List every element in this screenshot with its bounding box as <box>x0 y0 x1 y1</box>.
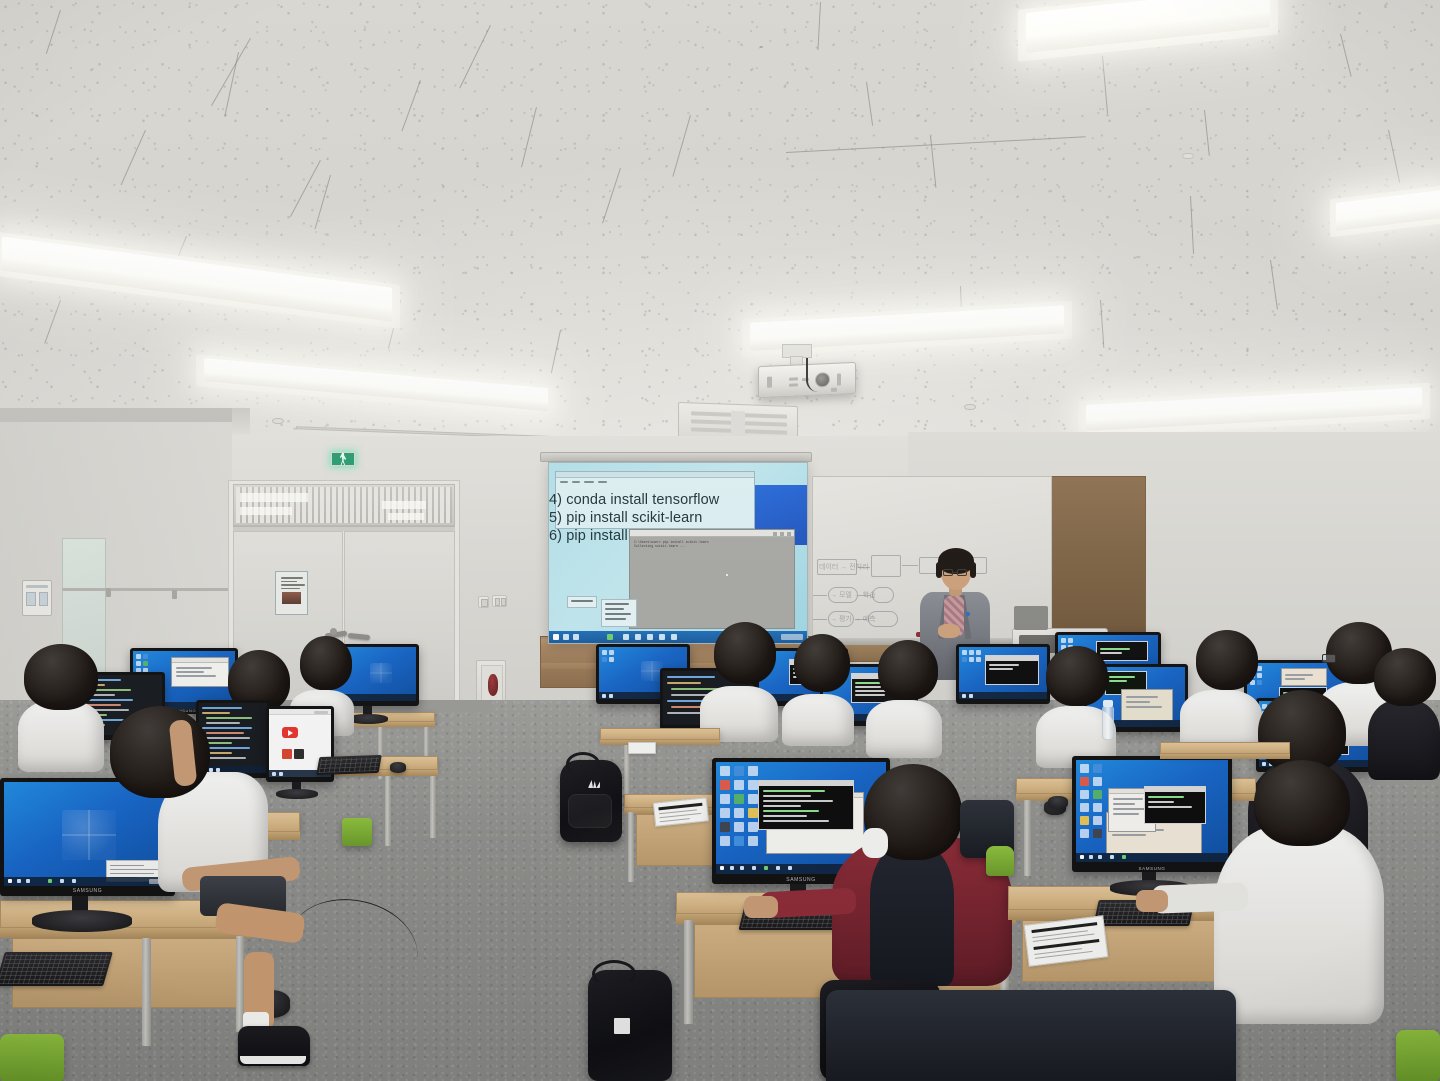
whiteboard-arrow <box>813 619 827 620</box>
projected-terminal-text: C:\Users\user> pip install scikit-learn … <box>634 540 709 548</box>
projector-vent <box>837 374 841 386</box>
screen-housing <box>540 452 812 462</box>
chair-back-front-center[interactable] <box>826 990 1236 1081</box>
backpack-adidas[interactable] <box>560 760 622 842</box>
projected-line-2: 5) pip install scikit-learn <box>549 509 702 528</box>
classroom-photo: 4) conda install tensorflow 5) pip insta… <box>0 0 1440 1081</box>
smoke-detector <box>1182 153 1194 159</box>
mouse[interactable] <box>390 762 406 773</box>
chair-green-right[interactable] <box>986 846 1014 876</box>
desk-leg <box>1024 800 1031 876</box>
av-box <box>1014 606 1048 630</box>
desk-leg <box>385 776 391 846</box>
projected-line-1: 4) conda install tensorflow <box>549 491 719 510</box>
hand <box>744 896 778 918</box>
door-notice-poster <box>275 571 308 615</box>
instructor-glasses-left <box>943 569 953 576</box>
whiteboard-text-3: → 평가 → 예측 <box>830 614 876 624</box>
running-man-icon <box>340 453 346 465</box>
desk-leg <box>628 812 634 882</box>
monitor-front-right[interactable]: SAMSUNG <box>1072 756 1232 872</box>
mouse-cursor-dot <box>726 574 728 576</box>
terminal-window[interactable] <box>1144 786 1206 824</box>
instructor-glasses-right <box>957 569 967 576</box>
whiteboard-arrow <box>902 565 918 566</box>
wall-ceiling-joint <box>0 408 232 422</box>
projector-vent <box>789 377 798 380</box>
student-glasses <box>1322 654 1336 663</box>
instructor-badge <box>966 612 970 616</box>
ceiling-rod <box>760 46 763 48</box>
whiteboard-arrow <box>813 595 827 596</box>
desk-right-back <box>1160 742 1290 754</box>
projector-vent <box>831 388 837 392</box>
door-transom-window <box>233 484 455 526</box>
jacket-panel <box>870 846 954 986</box>
desk-leg <box>684 920 693 1024</box>
wall-wood-panel-right <box>1050 476 1146 648</box>
adidas-logo-icon <box>588 780 600 788</box>
ceiling <box>0 0 1440 470</box>
fire-alarm-icon <box>488 674 498 696</box>
desk-center-back <box>600 728 720 740</box>
monitor-instructor-demo[interactable] <box>956 644 1050 704</box>
projector-vent <box>767 377 772 388</box>
backpack-northface[interactable] <box>588 970 672 1081</box>
wall-rail <box>62 588 232 591</box>
chair-green-far-right[interactable] <box>1396 1030 1440 1081</box>
water-bottle[interactable] <box>1102 706 1114 740</box>
desk-leg <box>430 776 436 838</box>
light-switch-panel[interactable] <box>492 595 507 607</box>
whiteboard-text-2: → 모델 → 학습 <box>830 590 876 600</box>
keyboard[interactable] <box>316 755 382 775</box>
rail-bracket <box>106 588 111 597</box>
shoe <box>238 1026 310 1066</box>
handout-small <box>628 742 656 754</box>
smoke-detector <box>272 418 284 424</box>
command-prompt-window[interactable] <box>758 780 854 830</box>
bottle-cap[interactable] <box>1103 700 1113 707</box>
youtube-logo-icon <box>282 727 298 738</box>
windows-logo-icon <box>62 810 116 860</box>
mouse-right-2[interactable] <box>1048 796 1068 809</box>
thumbnail-icon <box>282 749 292 759</box>
face-mask <box>862 828 888 858</box>
smoke-detector <box>964 404 976 410</box>
projected-context-menu <box>601 599 637 627</box>
whiteboard-box <box>871 555 901 577</box>
rail-bracket <box>172 590 177 599</box>
whiteboard-text-1: 데이터 → 전처리 <box>819 562 869 572</box>
chair-green-mid[interactable] <box>342 818 372 846</box>
thumbnail-icon <box>294 749 304 759</box>
desk-leg <box>142 938 151 1046</box>
projected-command-prompt: C:\Users\user> pip install scikit-learn … <box>629 529 795 629</box>
light-switch[interactable] <box>478 596 489 608</box>
instructor-hands <box>938 624 960 638</box>
exit-sign <box>331 452 355 466</box>
door-lock-icon <box>330 628 337 635</box>
projected-status-box <box>567 596 597 608</box>
projector-cable <box>806 358 824 392</box>
wall-control-panel[interactable] <box>22 580 52 616</box>
chair-green-front-left[interactable] <box>0 1034 64 1081</box>
projector-vent <box>789 383 798 386</box>
hand <box>1136 890 1168 912</box>
keyboard-front-left[interactable] <box>0 952 113 986</box>
projection-screen: 4) conda install tensorflow 5) pip insta… <box>548 462 808 644</box>
north-face-logo-icon <box>614 1018 630 1034</box>
